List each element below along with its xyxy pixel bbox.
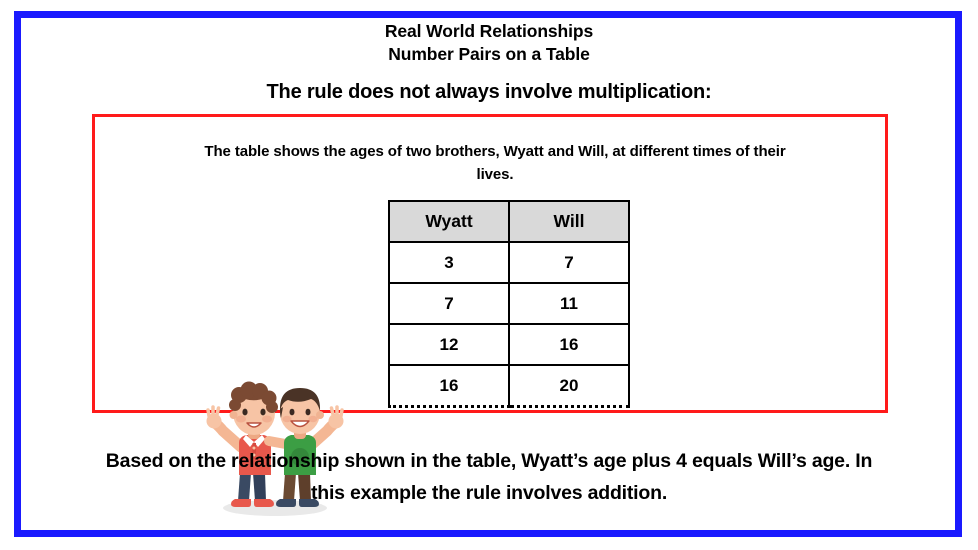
red-content-panel: The table shows the ages of two brothers… (92, 114, 888, 413)
cell-wyatt-1: 3 (389, 242, 509, 283)
table-header-will: Will (509, 201, 629, 242)
cell-will-4: 20 (509, 365, 629, 407)
table-header-wyatt: Wyatt (389, 201, 509, 242)
panel-caption: The table shows the ages of two brothers… (195, 140, 795, 186)
table-header-row: Wyatt Will (389, 201, 629, 242)
conclusion-text: Based on the relationship shown in the t… (89, 445, 889, 509)
table-row: 16 20 (389, 365, 629, 407)
cell-wyatt-4: 16 (389, 365, 509, 407)
slide-title: Real World Relationships Number Pairs on… (0, 20, 978, 66)
cell-wyatt-3: 12 (389, 324, 509, 365)
table-row: 7 11 (389, 283, 629, 324)
ages-table: Wyatt Will 3 7 7 11 12 16 16 (388, 200, 630, 408)
table-row: 3 7 (389, 242, 629, 283)
subtitle-heading: The rule does not always involve multipl… (0, 81, 978, 104)
cell-wyatt-2: 7 (389, 283, 509, 324)
title-line-1: Real World Relationships (0, 20, 978, 43)
slide-canvas: Real World Relationships Number Pairs on… (0, 0, 978, 550)
title-line-2: Number Pairs on a Table (0, 43, 978, 66)
cell-will-1: 7 (509, 242, 629, 283)
cell-will-2: 11 (509, 283, 629, 324)
cell-will-3: 16 (509, 324, 629, 365)
table-row: 12 16 (389, 324, 629, 365)
